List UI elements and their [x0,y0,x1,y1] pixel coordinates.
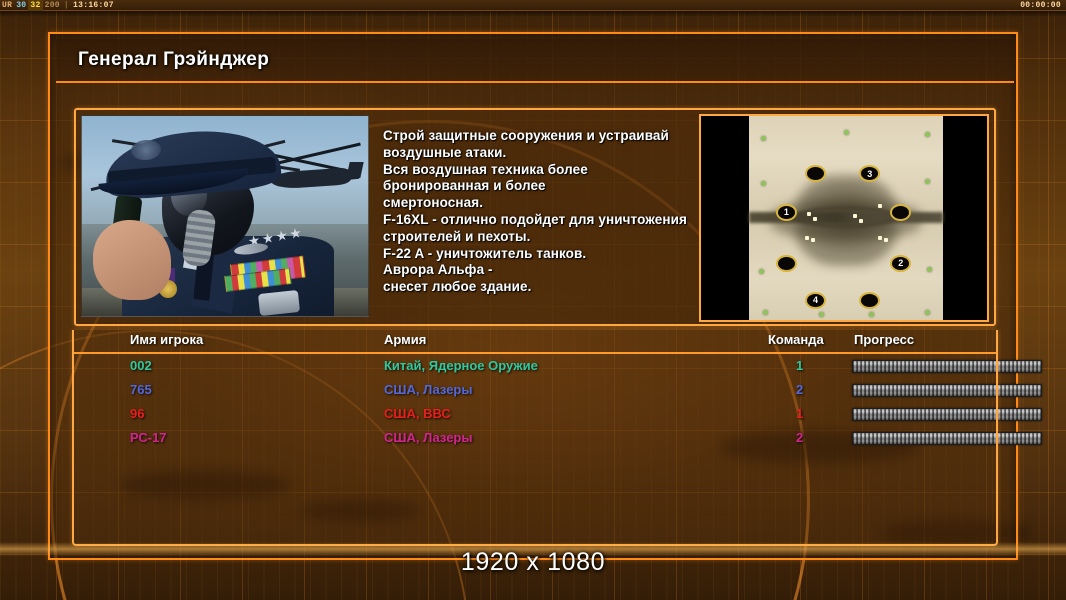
minimap-start-position: 4 [805,292,826,309]
loading-screen-panel: Генерал Грэйнджер [48,32,1018,560]
general-portrait [81,115,369,317]
column-header-name: Имя игрока [130,332,203,347]
player-name: РС-17 [130,430,167,445]
player-team: 2 [796,430,803,445]
minimap-start-position [805,165,826,182]
minimap-structure [811,238,815,242]
player-name: 002 [130,358,152,373]
minimap-start-position [859,292,880,309]
player-army: Китай, Ядерное Оружие [384,358,538,373]
column-header-progress: Прогресс [854,332,914,347]
status-separator: | [62,0,71,11]
minimap-structure [853,214,857,218]
status-timer-right: 00:00:00 [1020,0,1066,11]
minimap-start-position: 1 [776,204,797,221]
minimap-river-bend [796,206,896,228]
minimap-structure [878,204,882,208]
minimap: 3124 [699,114,989,322]
status-label: UR [0,0,14,11]
status-value-1: 30 [14,0,28,11]
column-header-army: Армия [384,332,426,347]
status-value-2: 32 [28,0,42,11]
briefing-description: Строй защитные сооружения и устраивай во… [369,110,699,324]
minimap-structure [805,236,809,240]
top-status-bar: UR 30 32 200 | 13:16:07 00:00:00 [0,0,1066,11]
player-army: США, Лазеры [384,430,472,445]
status-clock: 13:16:07 [71,0,116,11]
top-edge-shadow [0,11,1066,17]
minimap-structure [807,212,811,216]
briefing-panel: Строй защитные сооружения и устраивай во… [74,108,996,326]
column-header-team: Команда [768,332,824,347]
minimap-start-position [890,204,911,221]
minimap-structure [878,236,882,240]
player-progress-bar [852,384,1042,397]
player-name: 765 [130,382,152,397]
minimap-resource-node [759,269,764,274]
minimap-structure [859,219,863,223]
player-list-body: 002Китай, Ядерное Оружие1765США, Лазеры2… [74,356,996,538]
uniform-badge [258,290,300,316]
helicopter-icon [270,167,351,190]
player-progress-bar [852,408,1042,421]
table-row[interactable]: 765США, Лазеры2 [74,380,996,404]
status-value-3: 200 [43,0,62,11]
minimap-resource-node [761,181,766,186]
title-bar: Генерал Грэйнджер [56,39,1014,83]
table-row[interactable]: РС-17США, Лазеры2 [74,428,996,452]
player-list-header: Имя игрока Армия Команда Прогресс [74,332,996,354]
player-name: 96 [130,406,144,421]
minimap-start-position [776,255,797,272]
player-team: 2 [796,382,803,397]
hand [93,220,171,300]
table-row[interactable]: 96США, ВВС1 [74,404,996,428]
player-army: США, ВВС [384,406,451,421]
minimap-structure [884,238,888,242]
player-team: 1 [796,358,803,373]
page-title: Генерал Грэйнджер [56,49,269,71]
minimap-structure [813,217,817,221]
minimap-resource-node [763,310,768,315]
table-row[interactable]: 002Китай, Ядерное Оружие1 [74,356,996,380]
player-progress-bar [852,360,1042,373]
player-progress-bar [852,432,1042,445]
player-army: США, Лазеры [384,382,472,397]
minimap-start-position: 2 [890,255,911,272]
player-team: 1 [796,406,803,421]
resolution-label: 1920 x 1080 [0,548,1066,577]
minimap-resource-node [819,312,824,317]
